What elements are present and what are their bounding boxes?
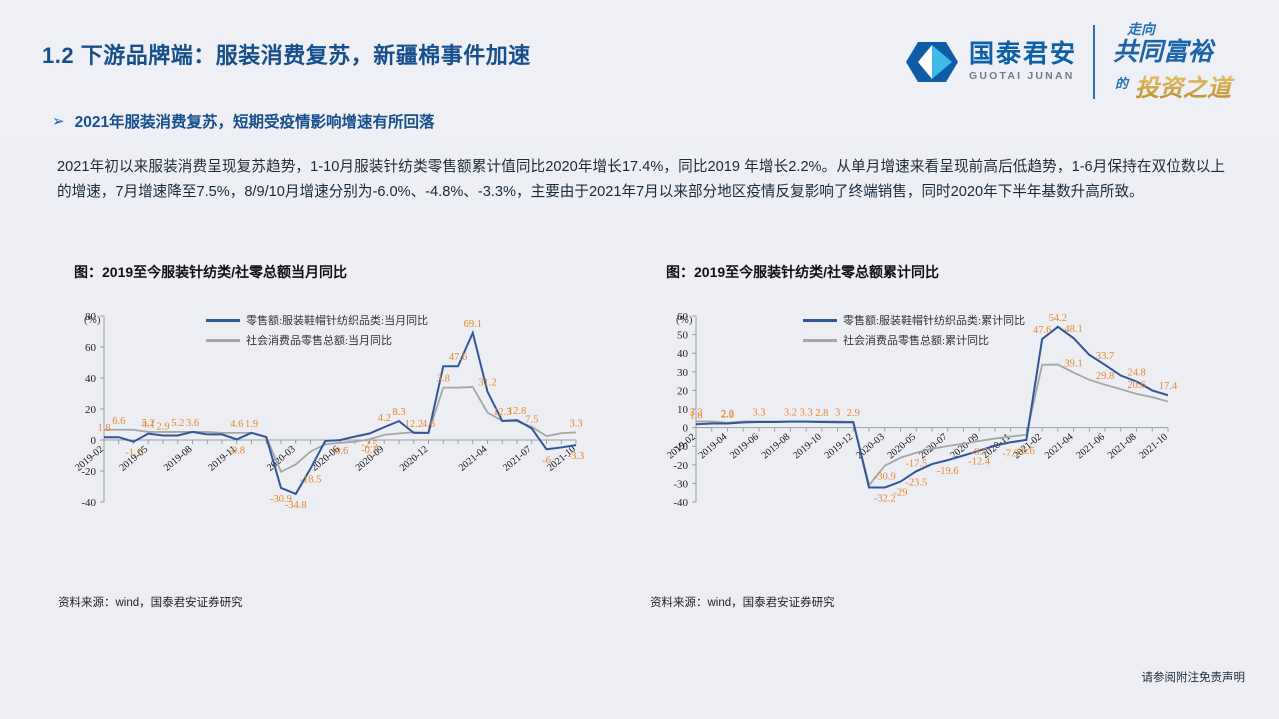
- svg-text:12.3: 12.3: [493, 407, 511, 418]
- svg-text:2.9: 2.9: [847, 408, 860, 419]
- body-paragraph: 2021年初以来服装消费呈现复苏趋势，1-10月服装针纺类零售额累计值同比202…: [57, 155, 1225, 205]
- svg-text:33.7: 33.7: [1096, 351, 1114, 362]
- svg-text:10: 10: [677, 404, 689, 416]
- svg-text:-1.1: -1.1: [125, 448, 142, 459]
- svg-text:48.1: 48.1: [1064, 324, 1082, 335]
- svg-text:1.8: 1.8: [97, 423, 110, 434]
- svg-text:3.8: 3.8: [437, 374, 450, 385]
- svg-text:31.2: 31.2: [478, 378, 496, 389]
- svg-text:50: 50: [677, 330, 689, 342]
- bullet-text: 2021年服装消费复苏，短期受疫情影响增速有所回落: [75, 110, 435, 132]
- svg-text:20: 20: [677, 385, 689, 397]
- svg-text:69.1: 69.1: [464, 319, 482, 330]
- chart-svg-cumulative: -40-30-20-1001020304050602019-022019-042…: [648, 302, 1248, 602]
- svg-text:2021-08: 2021-08: [1106, 431, 1139, 461]
- svg-text:-7.9: -7.9: [1002, 448, 1019, 459]
- svg-text:-0.8: -0.8: [228, 445, 245, 456]
- svg-text:走向: 走向: [1126, 21, 1157, 38]
- svg-text:2019-04: 2019-04: [697, 431, 730, 461]
- logo-english-text: GUOTAI JUNAN: [969, 71, 1077, 82]
- chart-source-monthly: 资料来源：wind，国泰君安证券研究: [58, 594, 243, 610]
- svg-text:40: 40: [85, 373, 97, 385]
- svg-text:-19.6: -19.6: [937, 466, 959, 477]
- svg-text:3.6: 3.6: [186, 418, 199, 429]
- svg-text:-0.6: -0.6: [332, 446, 349, 457]
- svg-text:2019-08: 2019-08: [760, 431, 793, 461]
- svg-text:12.2: 12.2: [405, 419, 423, 430]
- svg-text:-9.7: -9.7: [971, 447, 988, 458]
- svg-text:3.3: 3.3: [800, 407, 813, 418]
- svg-text:2.9: 2.9: [156, 422, 169, 433]
- svg-text:3.3: 3.3: [569, 418, 582, 429]
- svg-text:17.4: 17.4: [1159, 381, 1178, 392]
- svg-text:39.1: 39.1: [1064, 359, 1082, 370]
- svg-text:-6: -6: [542, 455, 551, 466]
- svg-text:-12.4: -12.4: [968, 457, 991, 468]
- chart-title-monthly: 图：2019至今服装针纺类/社零总额当月同比: [74, 262, 656, 282]
- svg-text:-30.9: -30.9: [874, 472, 896, 483]
- svg-text:2019-12: 2019-12: [823, 431, 856, 461]
- svg-text:47.6: 47.6: [449, 352, 467, 363]
- svg-text:2020-12: 2020-12: [398, 444, 431, 474]
- chart-svg-monthly: -40-200204060802019-022019-052019-082019…: [56, 302, 656, 602]
- svg-text:47.6: 47.6: [1033, 325, 1051, 336]
- svg-text:-34.8: -34.8: [285, 500, 307, 511]
- page-title: 1.2 下游品牌端：服装消费复苏，新疆棉事件加速: [42, 38, 531, 70]
- svg-text:2.6: 2.6: [721, 409, 734, 420]
- svg-text:1.9: 1.9: [245, 419, 258, 430]
- svg-text:6.6: 6.6: [112, 416, 125, 427]
- svg-text:4.2: 4.2: [378, 413, 391, 424]
- svg-text:20.6: 20.6: [1127, 380, 1145, 391]
- logo-divider: [1093, 25, 1095, 99]
- svg-text:0: 0: [683, 423, 689, 435]
- chart-panel-monthly: 图：2019至今服装针纺类/社零总额当月同比 (%) 零售额:服装鞋帽针纺织品类…: [56, 262, 656, 622]
- svg-text:4.6: 4.6: [422, 419, 435, 430]
- svg-text:-18.5: -18.5: [300, 475, 322, 486]
- svg-text:2021-04: 2021-04: [1043, 431, 1076, 461]
- svg-text:40: 40: [677, 348, 689, 360]
- slide-root: 1.2 下游品牌端：服装消费复苏，新疆棉事件加速 国泰君安 GUOTAI JUN…: [0, 0, 1279, 719]
- section-bullet: ➢ 2021年服装消费复苏，短期受疫情影响增速有所回落: [52, 110, 435, 132]
- svg-text:共同富裕: 共同富裕: [1113, 37, 1216, 66]
- brand-logo-group: 国泰君安 GUOTAI JUNAN 走向 共同富裕 的 投资之道: [904, 14, 1261, 110]
- svg-text:30: 30: [677, 367, 689, 379]
- svg-text:24.8: 24.8: [1127, 367, 1145, 378]
- chart-source-cumulative: 资料来源：wind，国泰君安证券研究: [650, 594, 835, 610]
- svg-text:3.3: 3.3: [752, 407, 765, 418]
- svg-text:-20: -20: [673, 460, 688, 472]
- svg-text:-6.6: -6.6: [1018, 446, 1035, 457]
- svg-text:-23.5: -23.5: [905, 477, 927, 488]
- svg-text:29.8: 29.8: [1096, 371, 1114, 382]
- svg-text:-40: -40: [81, 497, 96, 509]
- svg-text:-0.1: -0.1: [361, 445, 378, 456]
- svg-text:2019-08: 2019-08: [162, 444, 195, 474]
- svg-text:投资之道: 投资之道: [1135, 74, 1235, 102]
- svg-text:7.5: 7.5: [525, 414, 538, 425]
- guotai-junan-mark-icon: [904, 40, 960, 84]
- svg-text:-17.5: -17.5: [905, 459, 927, 470]
- svg-text:-30: -30: [673, 478, 688, 490]
- svg-text:2021-06: 2021-06: [1074, 431, 1107, 461]
- svg-text:8.3: 8.3: [392, 407, 405, 418]
- svg-text:3.3: 3.3: [689, 407, 702, 418]
- svg-text:2021-10: 2021-10: [1137, 431, 1170, 461]
- svg-text:3.2: 3.2: [784, 408, 797, 419]
- svg-text:0: 0: [91, 435, 97, 447]
- svg-text:60: 60: [677, 311, 689, 323]
- svg-text:2019-10: 2019-10: [791, 431, 824, 461]
- svg-text:-32.2: -32.2: [874, 493, 896, 504]
- svg-text:80: 80: [85, 311, 97, 323]
- guotai-junan-logo: 国泰君安 GUOTAI JUNAN: [904, 40, 1077, 84]
- svg-text:的: 的: [1115, 76, 1130, 92]
- chart-panel-cumulative: 图：2019至今服装针纺类/社零总额累计同比 (%) 零售额:服装鞋帽针纺织品类…: [648, 262, 1248, 622]
- svg-text:54.2: 54.2: [1049, 313, 1067, 324]
- svg-text:-3.3: -3.3: [568, 451, 585, 462]
- svg-text:60: 60: [85, 342, 97, 354]
- slogan-artwork: 走向 共同富裕 的 投资之道: [1111, 16, 1261, 108]
- svg-text:-29: -29: [894, 488, 908, 499]
- chart-title-cumulative: 图：2019至今服装针纺类/社零总额累计同比: [666, 262, 1248, 282]
- svg-text:20: 20: [85, 404, 97, 416]
- svg-text:-40: -40: [673, 497, 688, 509]
- svg-text:4.6: 4.6: [230, 419, 243, 430]
- svg-text:2019-06: 2019-06: [728, 431, 761, 461]
- bullet-arrow-icon: ➢: [52, 114, 65, 129]
- svg-text:5.2: 5.2: [142, 418, 155, 429]
- svg-text:2.8: 2.8: [815, 408, 828, 419]
- disclaimer-note: 请参阅附注免责声明: [1142, 669, 1246, 685]
- svg-text:3: 3: [835, 407, 840, 418]
- svg-text:5.2: 5.2: [171, 418, 184, 429]
- svg-text:2021-07: 2021-07: [501, 444, 534, 474]
- svg-text:2021-04: 2021-04: [457, 444, 490, 474]
- logo-chinese-text: 国泰君安: [969, 42, 1077, 67]
